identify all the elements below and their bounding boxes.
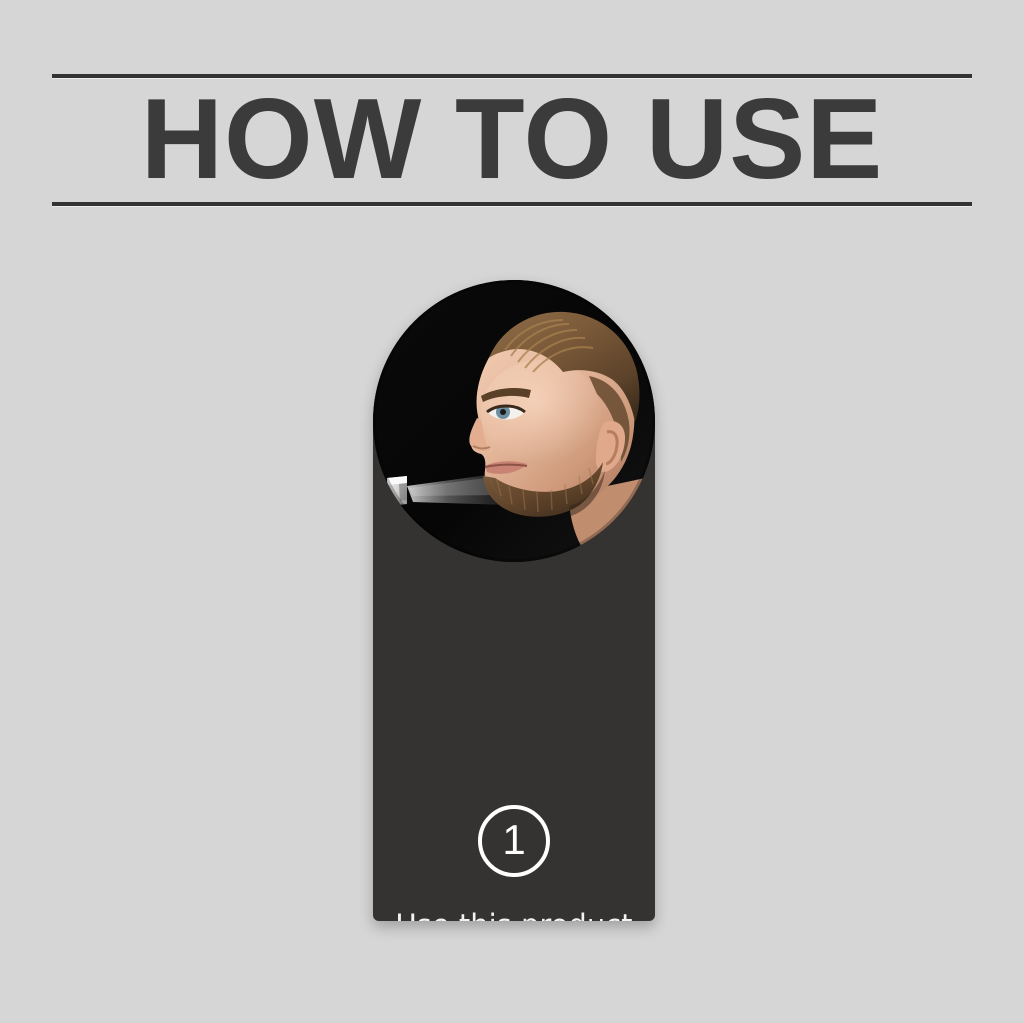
page-title: HOW TO USE bbox=[52, 78, 972, 202]
step-photo bbox=[373, 280, 655, 562]
step-instruction-text: Use this product after shaving, spray ev… bbox=[385, 906, 643, 921]
man-profile-spray-photo bbox=[373, 280, 655, 562]
step-number-label: 1 bbox=[502, 819, 525, 861]
step-number-badge: 1 bbox=[478, 805, 550, 877]
instruction-line: Use this product bbox=[385, 906, 643, 921]
step-card: 1 Use this product after shaving, spray … bbox=[373, 280, 655, 921]
page-root: HOW TO USE bbox=[0, 0, 1024, 1023]
step-card-surface: 1 Use this product after shaving, spray … bbox=[373, 280, 655, 921]
header: HOW TO USE bbox=[52, 74, 972, 206]
